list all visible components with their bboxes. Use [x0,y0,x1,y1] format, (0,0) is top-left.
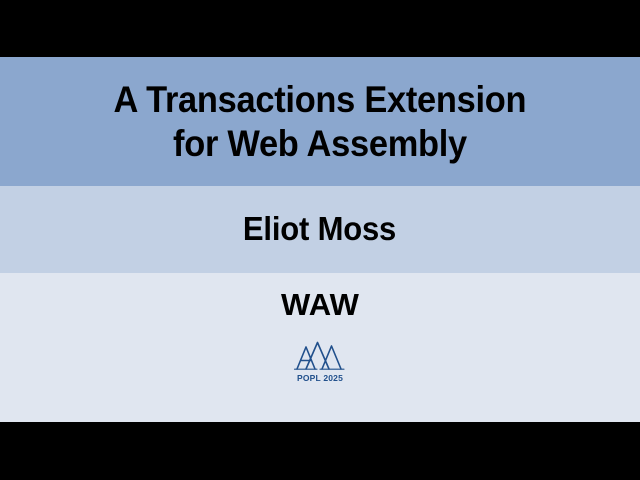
conference-logo: POPL 2025 [292,339,348,383]
conference-logo-caption: POPL 2025 [297,374,343,383]
letterbox-bar-top [0,0,640,57]
venue-band: WAW POPL 2025 [0,273,640,422]
video-title-slide: A Transactions Extension for Web Assembl… [0,0,640,480]
popl-mountains-icon [292,339,348,373]
speaker-name: Eliot Moss [243,211,396,247]
talk-title-line-1: A Transactions Extension [114,78,527,121]
talk-title-line-2: for Web Assembly [173,122,467,165]
letterbox-bar-bottom [0,422,640,480]
venue-name: WAW [281,288,359,322]
title-band: A Transactions Extension for Web Assembl… [0,57,640,186]
speaker-band: Eliot Moss [0,186,640,273]
